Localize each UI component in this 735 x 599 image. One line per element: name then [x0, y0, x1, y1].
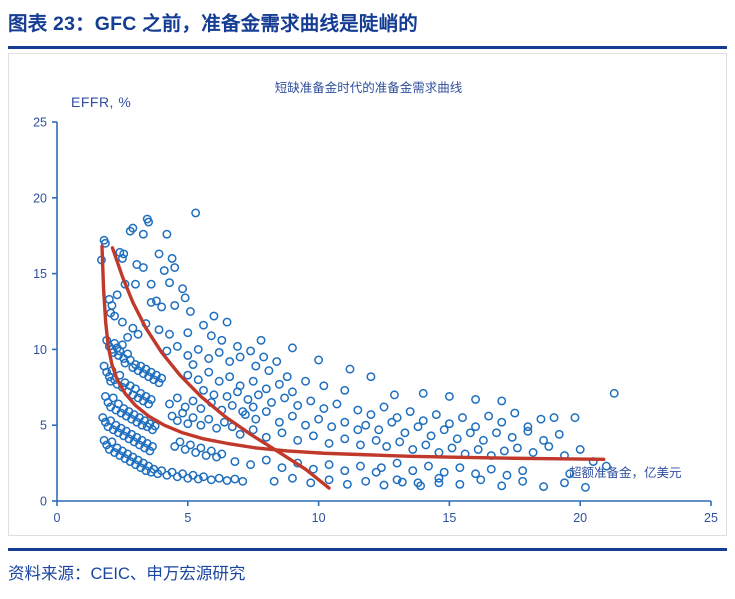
scatter-point	[197, 422, 204, 429]
scatter-point	[270, 478, 277, 485]
y-tick-label: 25	[33, 116, 47, 130]
scatter-point	[236, 431, 243, 438]
scatter-point	[396, 438, 403, 445]
scatter-point	[508, 434, 515, 441]
scatter-point	[294, 437, 301, 444]
scatter-point	[187, 441, 194, 448]
scatter-point	[372, 437, 379, 444]
scatter-point	[236, 353, 243, 360]
scatter-point	[276, 381, 283, 388]
y-tick-label: 5	[40, 419, 47, 433]
scatter-point	[205, 415, 212, 422]
scatter-point	[511, 409, 518, 416]
x-tick-label: 10	[312, 511, 326, 525]
scatter-point	[252, 415, 259, 422]
scatter-point	[195, 376, 202, 383]
scatter-point	[166, 331, 173, 338]
scatter-point	[189, 397, 196, 404]
scatter-point	[181, 294, 188, 301]
scatter-point	[161, 267, 168, 274]
scatter-point	[132, 281, 139, 288]
x-tick-label: 15	[442, 511, 456, 525]
scatter-point	[315, 356, 322, 363]
scatter-point	[545, 443, 552, 450]
scatter-point	[529, 449, 536, 456]
scatter-point	[302, 422, 309, 429]
scatter-point	[268, 399, 275, 406]
scatter-point	[440, 426, 447, 433]
scatter-point	[252, 362, 259, 369]
scatter-point	[480, 437, 487, 444]
scatter-point	[320, 382, 327, 389]
scatter-point	[215, 349, 222, 356]
scatter-point	[174, 343, 181, 350]
scatter-point	[446, 393, 453, 400]
scatter-point	[325, 440, 332, 447]
scatter-point	[231, 475, 238, 482]
scatter-point	[354, 426, 361, 433]
scatter-point	[550, 414, 557, 421]
scatter-point	[524, 428, 531, 435]
scatter-point	[378, 464, 385, 471]
scatter-point	[611, 390, 618, 397]
scatter-point	[540, 483, 547, 490]
scatter-point	[187, 308, 194, 315]
scatter-point	[197, 444, 204, 451]
scatter-point	[273, 358, 280, 365]
y-tick-label: 10	[33, 343, 47, 357]
scatter-point	[577, 446, 584, 453]
scatter-point	[281, 394, 288, 401]
scatter-point	[197, 405, 204, 412]
scatter-point	[124, 334, 131, 341]
scatter-point	[247, 347, 254, 354]
scatter-point	[448, 444, 455, 451]
scatter-point	[488, 465, 495, 472]
scatter-point	[289, 412, 296, 419]
scatter-point	[357, 462, 364, 469]
scatter-point	[393, 459, 400, 466]
scatter-point	[223, 318, 230, 325]
scatter-point	[383, 443, 390, 450]
source-note: 资料来源：CEIC、申万宏源研究	[8, 560, 245, 584]
scatter-point	[263, 434, 270, 441]
scatter-point	[456, 481, 463, 488]
scatter-point	[168, 255, 175, 262]
scatter-point	[208, 476, 215, 483]
scatter-point	[346, 365, 353, 372]
scatter-point	[406, 408, 413, 415]
scatter-point	[134, 331, 141, 338]
scatter-point	[166, 400, 173, 407]
scatter-point	[200, 387, 207, 394]
scatter-point	[467, 429, 474, 436]
scatter-point	[179, 285, 186, 292]
scatter-point	[250, 403, 257, 410]
scatter-point	[289, 344, 296, 351]
scatter-point	[401, 429, 408, 436]
scatter-point	[140, 230, 147, 237]
scatter-point	[223, 393, 230, 400]
scatter-point	[325, 476, 332, 483]
scatter-point	[380, 403, 387, 410]
scatter-point	[571, 414, 578, 421]
scatter-point	[357, 441, 364, 448]
scatter-point	[477, 476, 484, 483]
scatter-point	[213, 425, 220, 432]
scatter-point	[257, 337, 264, 344]
scatter-point	[171, 302, 178, 309]
scatter-point	[171, 264, 178, 271]
scatter-point	[433, 411, 440, 418]
scatter-point	[113, 291, 120, 298]
chart-container: 短缺准备金时代的准备金需求曲线 EFFR, % 超额准备金，亿美元 051015…	[8, 53, 727, 536]
scatter-point	[459, 414, 466, 421]
scatter-point	[375, 426, 382, 433]
scatter-point	[503, 472, 510, 479]
x-tick-label: 25	[704, 511, 718, 525]
y-tick-label: 0	[40, 495, 47, 509]
scatter-point	[218, 337, 225, 344]
scatter-point	[367, 411, 374, 418]
scatter-point	[472, 396, 479, 403]
scatter-point	[155, 326, 162, 333]
scatter-point	[333, 400, 340, 407]
scatter-point	[226, 358, 233, 365]
scatter-point	[362, 422, 369, 429]
scatter-point	[435, 475, 442, 482]
scatter-point	[561, 479, 568, 486]
scatter-point	[250, 378, 257, 385]
scatter-point	[208, 332, 215, 339]
scatter-point	[226, 373, 233, 380]
scatter-point	[344, 481, 351, 488]
scatter-point	[210, 312, 217, 319]
scatter-point	[155, 250, 162, 257]
scatter-point	[174, 394, 181, 401]
scatter-point	[205, 368, 212, 375]
x-tick-label: 5	[184, 511, 191, 525]
scatter-point	[391, 391, 398, 398]
scatter-point	[341, 435, 348, 442]
x-tick-label: 20	[573, 511, 587, 525]
scatter-point	[189, 361, 196, 368]
scatter-point	[189, 414, 196, 421]
scatter-point	[244, 396, 251, 403]
scatter-point	[409, 446, 416, 453]
scatter-point	[498, 418, 505, 425]
scatter-point	[362, 478, 369, 485]
scatter-point	[260, 353, 267, 360]
figure-header: 图表 23：GFC 之前，准备金需求曲线是陡峭的	[8, 8, 727, 46]
scatter-point	[210, 391, 217, 398]
scatter-point	[456, 464, 463, 471]
scatter-point	[231, 458, 238, 465]
scatter-point	[409, 467, 416, 474]
scatter-point	[195, 346, 202, 353]
scatter-point	[422, 441, 429, 448]
scatter-point	[498, 482, 505, 489]
scatter-point	[147, 281, 154, 288]
scatter-point	[294, 402, 301, 409]
scatter-point	[263, 456, 270, 463]
scatter-point	[320, 405, 327, 412]
scatter-point	[265, 367, 272, 374]
scatter-point	[255, 391, 262, 398]
scatter-point	[184, 371, 191, 378]
scatter-point	[498, 397, 505, 404]
scatter-point	[454, 435, 461, 442]
scatter-point	[289, 388, 296, 395]
footer-divider	[8, 548, 727, 551]
scatter-point	[229, 402, 236, 409]
scatter-point	[603, 462, 610, 469]
scatter-point	[519, 478, 526, 485]
scatter-point	[176, 438, 183, 445]
scatter-point	[307, 479, 314, 486]
scatter-point	[310, 432, 317, 439]
scatter-point	[341, 387, 348, 394]
y-tick-label: 20	[33, 191, 47, 205]
scatter-point	[163, 230, 170, 237]
scatter-point	[427, 432, 434, 439]
scatter-point	[425, 462, 432, 469]
scatter-point	[474, 446, 481, 453]
scatter-point	[519, 467, 526, 474]
scatter-point	[215, 475, 222, 482]
scatter-point	[420, 390, 427, 397]
scatter-point	[307, 397, 314, 404]
scatter-point	[184, 352, 191, 359]
scatter-point	[388, 418, 395, 425]
scatter-point	[325, 461, 332, 468]
scatter-point	[556, 431, 563, 438]
scatter-point	[493, 429, 500, 436]
scatter-point	[582, 484, 589, 491]
scatter-point	[234, 343, 241, 350]
scatter-point	[435, 449, 442, 456]
scatter-point	[174, 417, 181, 424]
scatter-point	[158, 303, 165, 310]
scatter-point	[119, 318, 126, 325]
scatter-point	[414, 423, 421, 430]
scatter-point	[200, 321, 207, 328]
title-divider	[8, 46, 727, 49]
scatter-point	[192, 209, 199, 216]
y-tick-label: 15	[33, 267, 47, 281]
scatter-point	[289, 475, 296, 482]
scatter-point	[140, 264, 147, 271]
scatter-point	[485, 412, 492, 419]
scatter-series	[98, 209, 618, 491]
scatter-point	[328, 423, 335, 430]
scatter-point	[501, 447, 508, 454]
scatter-point	[341, 467, 348, 474]
page-title: 图表 23：GFC 之前，准备金需求曲线是陡峭的	[8, 8, 727, 40]
scatter-point	[566, 470, 573, 477]
scatter-plot: 05101520250510152025	[9, 54, 728, 537]
scatter-point	[205, 355, 212, 362]
scatter-point	[263, 385, 270, 392]
scatter-point	[380, 481, 387, 488]
scatter-point	[367, 373, 374, 380]
scatter-point	[166, 279, 173, 286]
x-tick-label: 0	[54, 511, 61, 525]
scatter-point	[247, 461, 254, 468]
scatter-point	[302, 378, 309, 385]
scatter-point	[215, 378, 222, 385]
scatter-point	[284, 373, 291, 380]
scatter-point	[276, 418, 283, 425]
scatter-point	[354, 406, 361, 413]
scatter-point	[537, 415, 544, 422]
scatter-point	[514, 444, 521, 451]
scatter-point	[263, 408, 270, 415]
scatter-point	[239, 478, 246, 485]
scatter-point	[223, 477, 230, 484]
scatter-point	[315, 415, 322, 422]
scatter-point	[341, 418, 348, 425]
scatter-point	[278, 464, 285, 471]
scatter-point	[278, 429, 285, 436]
scatter-point	[184, 329, 191, 336]
